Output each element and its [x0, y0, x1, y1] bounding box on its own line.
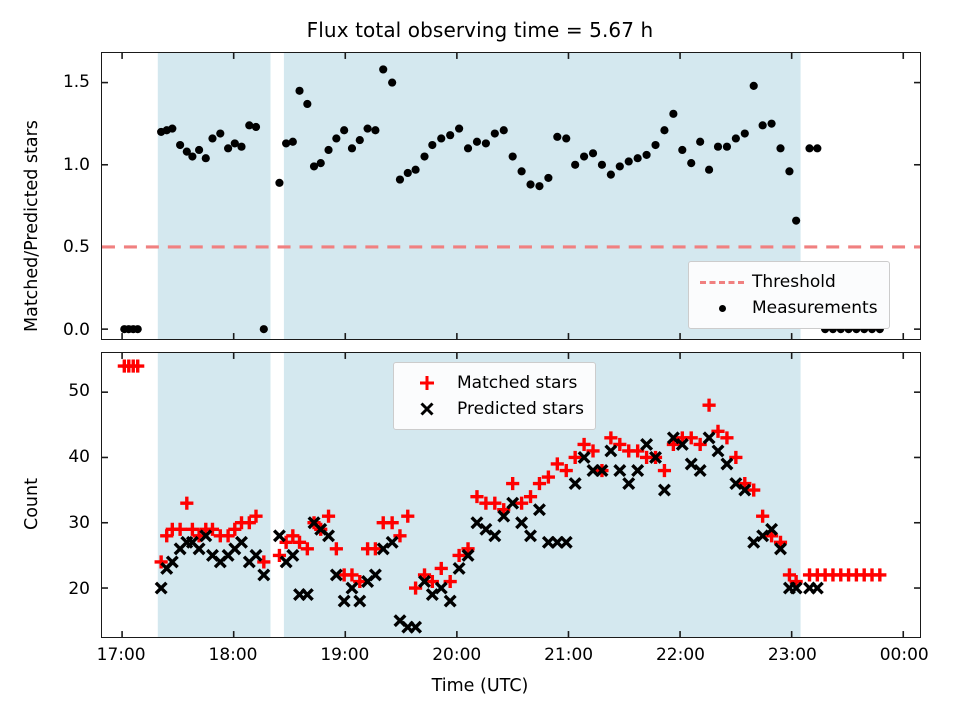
plus-marker-icon	[403, 373, 451, 393]
legend-item-threshold: Threshold	[698, 269, 878, 295]
shaded-interval	[158, 53, 271, 339]
x-axis-label: Time (UTC)	[0, 676, 960, 696]
legend-label-threshold: Threshold	[746, 272, 836, 292]
bottom-ytick-50: 50	[68, 381, 90, 401]
page-title: Flux total observing time = 5.67 h	[0, 18, 960, 42]
xtick-21-00: 21:00	[544, 645, 593, 665]
top-ytick-1.5: 1.5	[63, 72, 90, 92]
bottom-ytick-20: 20	[68, 579, 90, 599]
bottom-panel-legend: Matched stars Predicted stars	[393, 362, 596, 430]
xtick-18-00: 18:00	[209, 645, 258, 665]
legend-label-matched-stars: Matched stars	[451, 373, 577, 393]
bottom-ytick-30: 30	[68, 513, 90, 533]
legend-item-predicted-stars: Predicted stars	[403, 396, 584, 422]
xtick-00-00: 00:00	[880, 645, 929, 665]
xtick-17-00: 17:00	[97, 645, 146, 665]
xtick-20-00: 20:00	[432, 645, 481, 665]
legend-item-matched-stars: Matched stars	[403, 370, 584, 396]
xtick-19-00: 19:00	[320, 645, 369, 665]
legend-label-predicted-stars: Predicted stars	[451, 399, 584, 419]
xtick-22-00: 22:00	[656, 645, 705, 665]
xtick-23-00: 23:00	[768, 645, 817, 665]
bottom-ytick-40: 40	[68, 447, 90, 467]
bottom-panel-ylabel: Count	[22, 478, 42, 530]
cross-marker-icon	[403, 399, 451, 419]
top-ytick-1.0: 1.0	[63, 155, 90, 175]
shaded-interval	[158, 353, 271, 637]
legend-label-measurements: Measurements	[746, 298, 878, 318]
dot-marker-icon	[698, 305, 746, 312]
top-ytick-0.5: 0.5	[63, 237, 90, 257]
dashed-line-icon	[698, 281, 746, 284]
legend-item-measurements: Measurements	[698, 295, 878, 321]
top-ytick-0.0: 0.0	[63, 320, 90, 340]
figure-canvas: Flux total observing time = 5.67 h 0.00.…	[0, 0, 960, 720]
top-panel-ylabel: Matched/Predicted stars	[22, 120, 42, 332]
top-panel-legend: Threshold Measurements	[688, 261, 890, 329]
